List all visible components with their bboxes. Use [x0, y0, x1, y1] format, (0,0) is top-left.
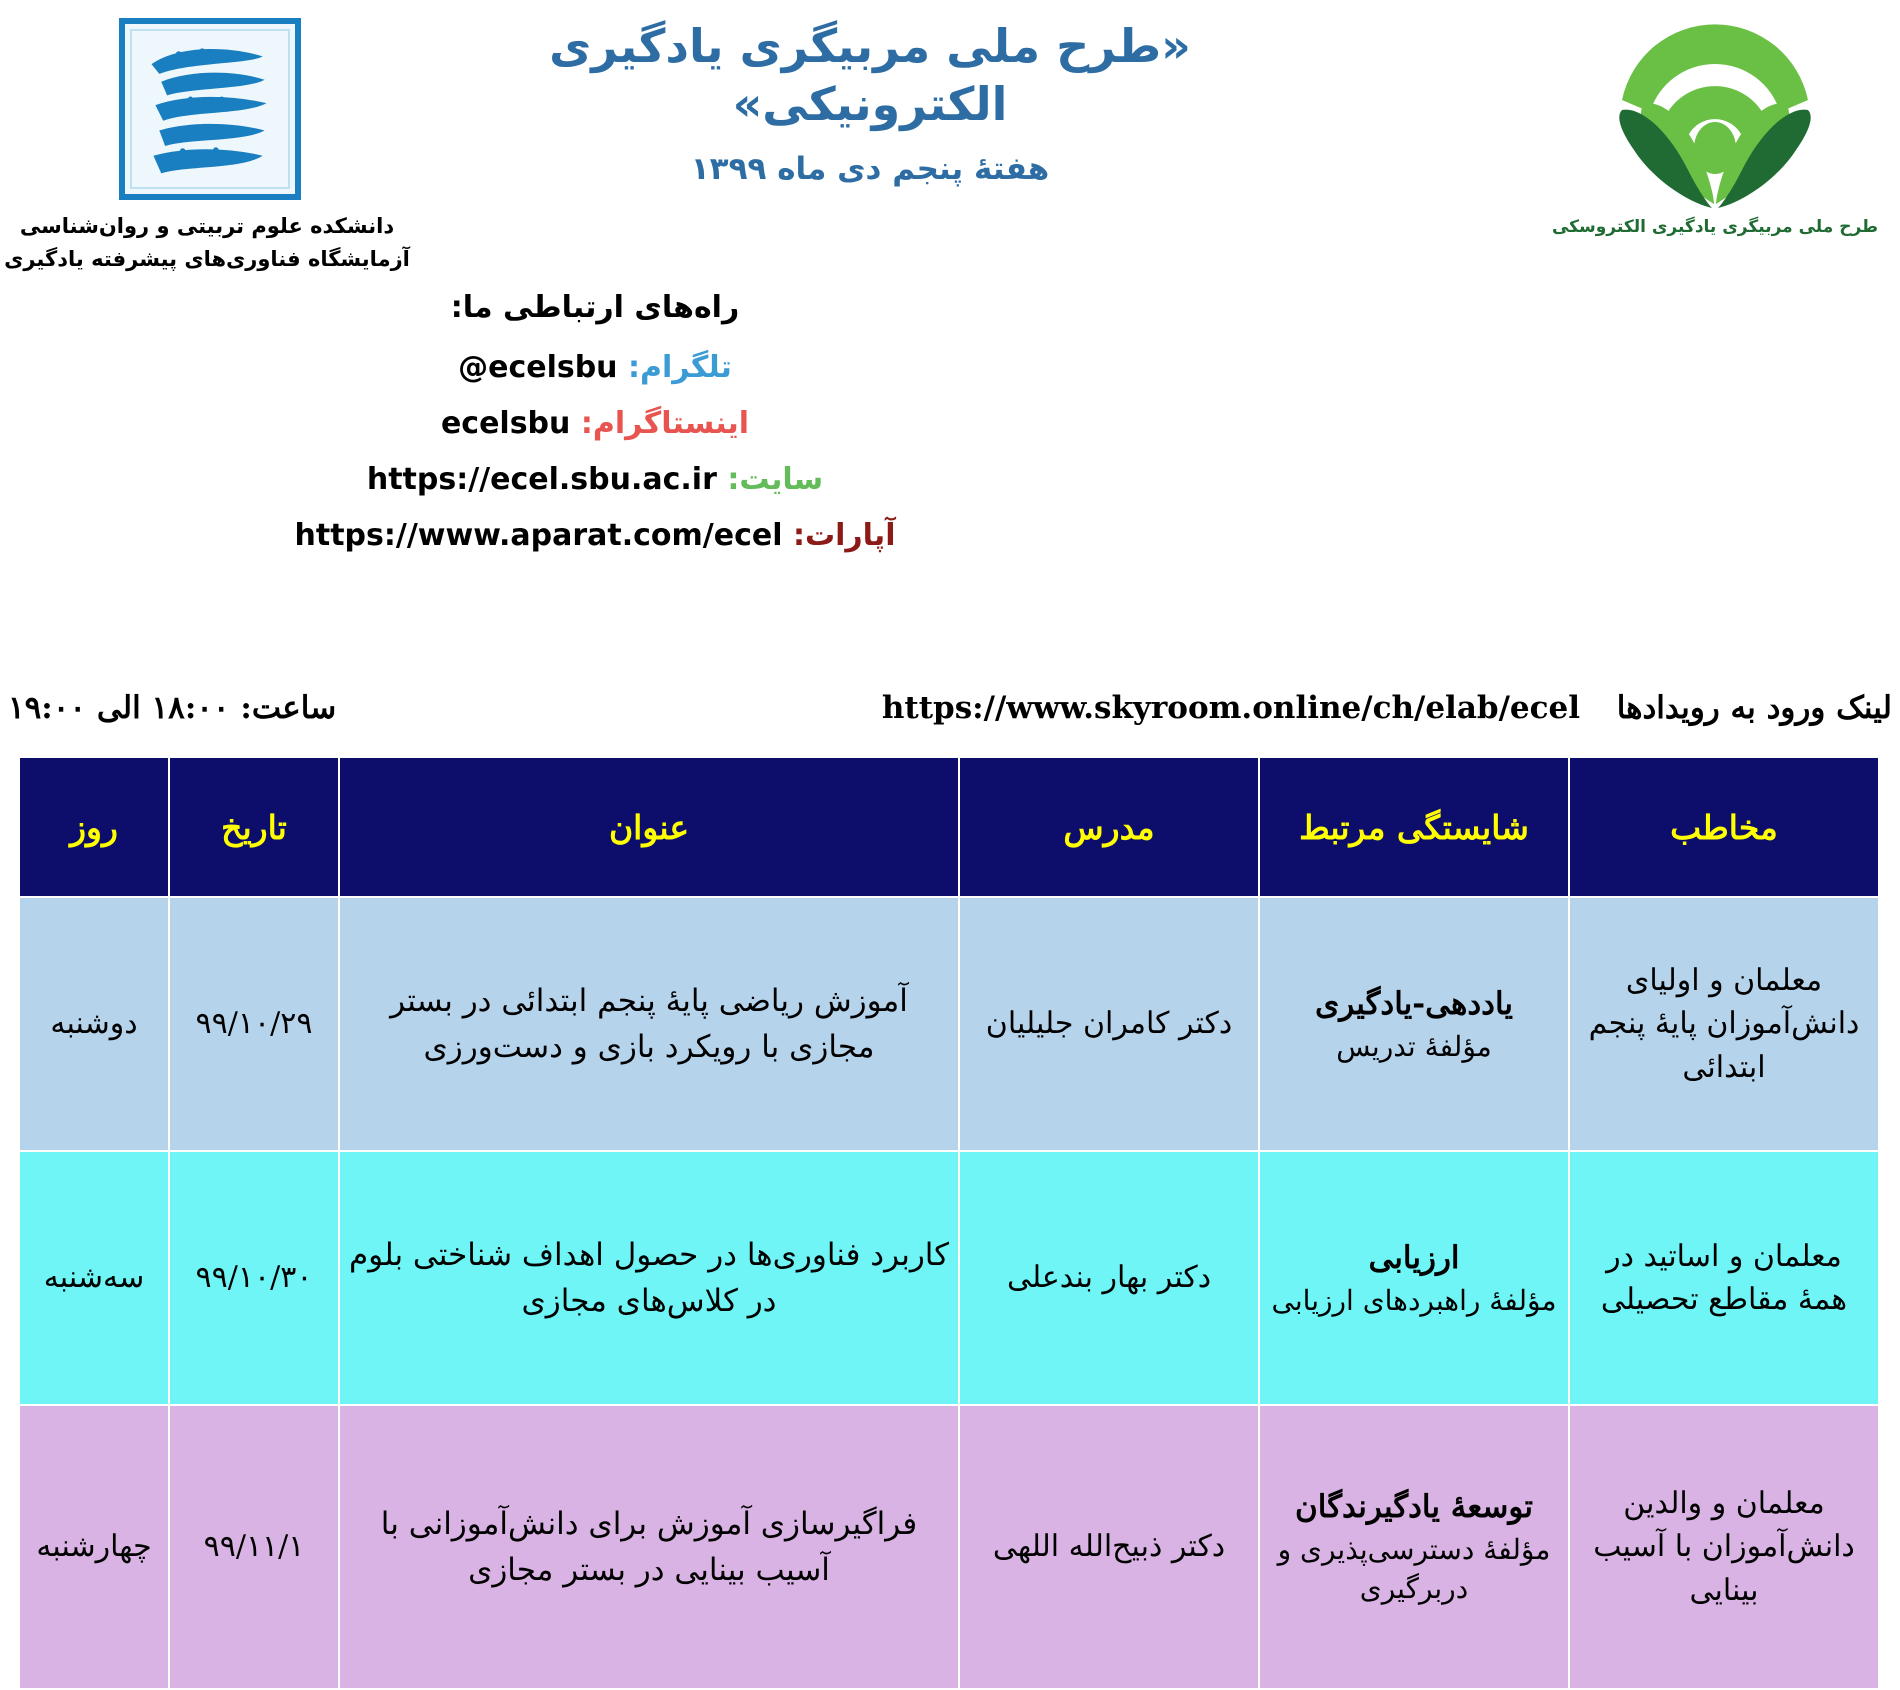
column-header-lecturer: مدرس	[959, 757, 1259, 897]
cell-audience: معلمان و اولیای دانش‌آموزان پایهٔ پنجم ا…	[1569, 897, 1879, 1151]
event-link-label: لینک ورود به رویدادها	[1617, 690, 1892, 726]
poster-main-title: «طرح ملی مربیگری یادگیری الکترونیکی»	[430, 18, 1310, 133]
cell-competency: یاددهی-یادگیری مؤلفهٔ تدریس	[1259, 897, 1569, 1151]
cell-title: کاربرد فناوری‌ها در حصول اهداف شناختی بل…	[339, 1151, 959, 1405]
contact-value-telegram[interactable]: @ecelsbu	[458, 353, 617, 383]
contact-item-website: سایت: https://ecel.sbu.ac.ir	[0, 465, 1190, 495]
column-header-date: تاریخ	[169, 757, 339, 897]
university-lab-caption-line2: آزمایشگاه فناوری‌های پیشرفته یادگیری	[0, 243, 420, 276]
table-row: معلمان و اساتید در همهٔ مقاطع تحصیلی ارز…	[19, 1151, 1879, 1405]
contact-value-aparat[interactable]: https://www.aparat.com/ecel	[295, 521, 783, 551]
competency-sub: مؤلفهٔ راهبردهای ارزیابی	[1268, 1281, 1560, 1320]
competency-sub: مؤلفهٔ تدریس	[1268, 1027, 1560, 1066]
table-row: معلمان و والدین دانش‌آموزان با آسیب بینا…	[19, 1405, 1879, 1689]
cell-date: ۹۹/۱۰/۲۹	[169, 897, 339, 1151]
cell-audience: معلمان و اساتید در همهٔ مقاطع تحصیلی	[1569, 1151, 1879, 1405]
cell-title: فراگیرسازی آموزش برای دانش‌آموزانی با آس…	[339, 1405, 959, 1689]
cell-competency: توسعهٔ یادگیرندگان مؤلفهٔ دسترسی‌پذیری و…	[1259, 1405, 1569, 1689]
table-header-row: مخاطب شایستگی مرتبط مدرس عنوان تاریخ روز	[19, 757, 1879, 897]
column-header-day: روز	[19, 757, 169, 897]
cell-audience: معلمان و والدین دانش‌آموزان با آسیب بینا…	[1569, 1405, 1879, 1689]
cell-title: آموزش ریاضی پایهٔ پنجم ابتدائی در بستر م…	[339, 897, 959, 1151]
university-branding: دانشکده علوم تربیتی و روان‌شناسی آزمایشگ…	[0, 10, 420, 275]
schedule-table: مخاطب شایستگی مرتبط مدرس عنوان تاریخ روز…	[18, 756, 1880, 1690]
project-branding: طرح ملی مربیگری یادگیری الکتروسکی	[1550, 8, 1880, 237]
cell-lecturer: دکتر کامران جلیلیان	[959, 897, 1259, 1151]
column-header-title: عنوان	[339, 757, 959, 897]
ecel-project-logo-icon	[1590, 8, 1840, 213]
competency-main: توسعهٔ یادگیرندگان	[1268, 1485, 1560, 1530]
cell-date: ۹۹/۱۰/۳۰	[169, 1151, 339, 1405]
event-link-url[interactable]: https://www.skyroom.online/ch/elab/ecel	[882, 690, 1580, 726]
table-row: معلمان و اولیای دانش‌آموزان پایهٔ پنجم ا…	[19, 897, 1879, 1151]
contact-heading: راه‌های ارتباطی ما:	[0, 290, 1190, 325]
contact-label-telegram: تلگرام	[640, 350, 732, 385]
competency-sub: مؤلفهٔ دسترسی‌پذیری و دربرگیری	[1268, 1530, 1560, 1608]
contact-label-aparat: آپارات	[805, 518, 896, 553]
cell-day: چهارشنبه	[19, 1405, 169, 1689]
cell-lecturer: دکتر ذبیح‌الله اللهی	[959, 1405, 1259, 1689]
column-header-audience: مخاطب	[1569, 757, 1879, 897]
contact-block: راه‌های ارتباطی ما: تلگرام: @ecelsbu این…	[0, 290, 1190, 577]
contact-item-aparat: آپارات: https://www.aparat.com/ecel	[0, 521, 1190, 551]
contact-item-telegram: تلگرام: @ecelsbu	[0, 353, 1190, 383]
shahid-beheshti-university-logo-icon	[119, 18, 301, 200]
cell-date: ۹۹/۱۱/۱	[169, 1405, 339, 1689]
university-faculty-caption-line1: دانشکده علوم تربیتی و روان‌شناسی	[0, 210, 420, 243]
contact-value-instagram[interactable]: ecelsbu	[441, 409, 570, 439]
contact-item-instagram: اینستاگرام: ecelsbu	[0, 409, 1190, 439]
column-header-competency: شایستگی مرتبط	[1259, 757, 1569, 897]
poster-header: دانشکده علوم تربیتی و روان‌شناسی آزمایشگ…	[0, 0, 1900, 300]
cell-lecturer: دکتر بهار بندعلی	[959, 1151, 1259, 1405]
event-link-bar: لینک ورود به رویدادها https://www.skyroo…	[0, 690, 1900, 746]
cell-competency: ارزیابی مؤلفهٔ راهبردهای ارزیابی	[1259, 1151, 1569, 1405]
title-block: «طرح ملی مربیگری یادگیری الکترونیکی» هفت…	[430, 18, 1310, 187]
event-time-label: ساعت: ۱۸:۰۰ الی ۱۹:۰۰	[8, 690, 336, 726]
schedule-table-wrapper: مخاطب شایستگی مرتبط مدرس عنوان تاریخ روز…	[20, 756, 1880, 1690]
contact-separator-instagram: :	[581, 406, 593, 441]
contact-separator-telegram: :	[628, 350, 640, 385]
contact-label-instagram: اینستاگرام	[593, 406, 749, 441]
contact-value-website[interactable]: https://ecel.sbu.ac.ir	[367, 465, 717, 495]
contact-label-website: سایت	[739, 462, 823, 497]
cell-day: سه‌شنبه	[19, 1151, 169, 1405]
cell-day: دوشنبه	[19, 897, 169, 1151]
contact-separator-website: :	[727, 462, 739, 497]
contact-separator-aparat: :	[793, 518, 805, 553]
competency-main: ارزیابی	[1268, 1236, 1560, 1281]
poster-subtitle: هفتهٔ پنجم دی ماه ۱۳۹۹	[430, 151, 1310, 187]
project-logo-caption: طرح ملی مربیگری یادگیری الکتروسکی	[1550, 217, 1880, 237]
competency-main: یاددهی-یادگیری	[1268, 982, 1560, 1027]
